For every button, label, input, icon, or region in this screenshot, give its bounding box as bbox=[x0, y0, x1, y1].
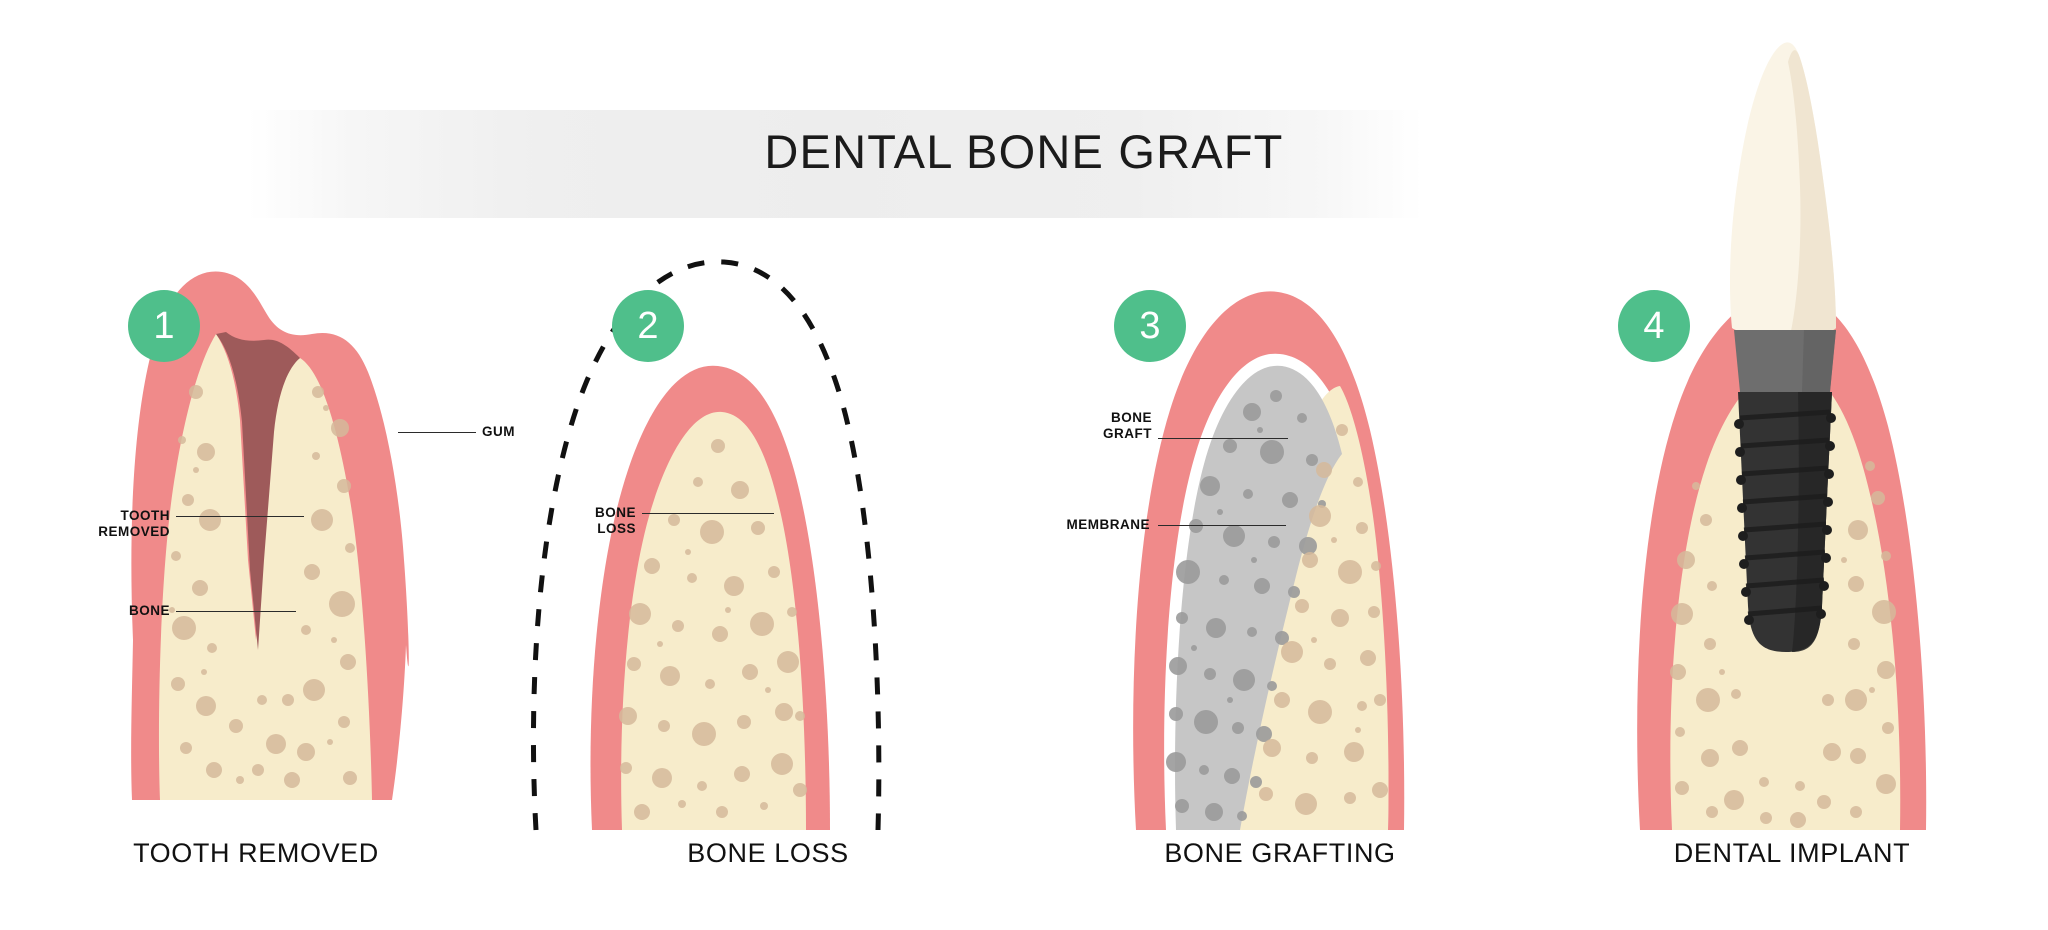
callout-bone-graft: BONE GRAFT bbox=[1078, 410, 1152, 442]
illustration-bone-loss bbox=[512, 0, 1024, 930]
infographic-canvas: DENTAL BONE GRAFT bbox=[0, 0, 2048, 930]
panel-bone-grafting: 3 BONE GRAFTING bbox=[1024, 0, 1536, 930]
leader-line-membrane bbox=[1158, 525, 1286, 526]
leader-line-tooth-removed bbox=[176, 516, 304, 517]
illustration-dental-implant bbox=[1536, 0, 2048, 930]
step-badge-1: 1 bbox=[128, 290, 200, 362]
callout-bone: BONE bbox=[92, 603, 170, 619]
panel-bone-loss: 2 BONE LOSS bbox=[512, 0, 1024, 930]
step-badge-2: 2 bbox=[612, 290, 684, 362]
panel-dental-implant: 4 DENTAL IMPLANT bbox=[1536, 0, 2048, 930]
illustration-bone-grafting bbox=[1024, 0, 1536, 930]
panel-caption-1: TOOTH REMOVED bbox=[0, 838, 512, 869]
callout-gum: GUM bbox=[482, 424, 515, 440]
illustration-tooth-removed bbox=[0, 0, 512, 930]
step-badge-3: 3 bbox=[1114, 290, 1186, 362]
panel-caption-3: BONE GRAFTING bbox=[1024, 838, 1536, 869]
panel-tooth-removed: 1 TOOTH REMOVED bbox=[0, 0, 512, 930]
leader-line-gum bbox=[398, 432, 476, 433]
step-badge-4: 4 bbox=[1618, 290, 1690, 362]
panel-caption-2: BONE LOSS bbox=[512, 838, 1024, 869]
leader-line-bone-graft bbox=[1158, 438, 1288, 439]
callout-membrane: MEMBRANE bbox=[1048, 517, 1150, 533]
panel-caption-4: DENTAL IMPLANT bbox=[1536, 838, 2048, 869]
callout-bone-loss: BONE LOSS bbox=[574, 505, 636, 537]
leader-line-bone bbox=[176, 611, 296, 612]
callout-tooth-removed: TOOTH REMOVED bbox=[84, 508, 170, 540]
leader-line-bone-loss bbox=[642, 513, 774, 514]
